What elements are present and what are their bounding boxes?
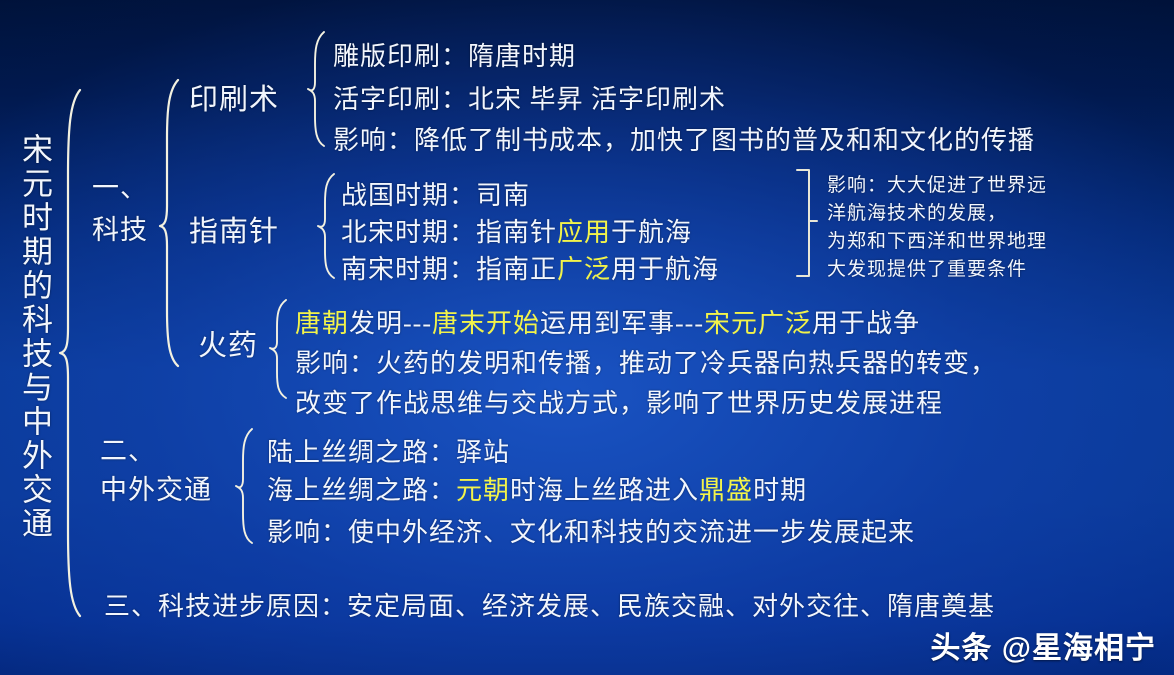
compass-line-2: 北宋时期：指南针应用于航海 — [341, 212, 692, 249]
printing-line-3: 影响：降低了制书成本，加快了图书的普及和和文化的传播 — [333, 120, 1035, 157]
gunpowder-brace — [268, 298, 290, 400]
gunpowder-hl-3: 宋元广泛 — [704, 309, 812, 338]
compass-effect-line-4: 大发现提供了重要条件 — [827, 254, 1027, 281]
section2-line-2-highlight-2: 鼎盛 — [699, 476, 753, 505]
compass-line-3: 南宋时期：指南正广泛用于航海 — [341, 249, 719, 286]
section2-line-2-pre: 海上丝绸之路： — [267, 476, 456, 505]
main-brace — [58, 88, 84, 618]
topic-compass-label: 指南针 — [189, 208, 279, 250]
gunpowder-hl-2: 唐末开始 — [432, 309, 540, 338]
compass-line-3-highlight: 广泛 — [557, 255, 611, 284]
compass-effect-bracket — [795, 168, 819, 278]
gunpowder-line-1: 唐朝发明---唐末开始运用到军事---宋元广泛用于战争 — [295, 303, 920, 340]
compass-line-2-post: 于航海 — [611, 218, 692, 247]
gunpowder-mid-2: 运用到军事--- — [540, 309, 704, 338]
slide-canvas: 宋元时期的科技与中外交通 一、 科技 印刷术 雕版印刷：隋唐时期 活字印刷：北宋… — [0, 0, 1174, 675]
printing-line-2: 活字印刷：北宋 毕昇 活字印刷术 — [333, 79, 726, 116]
section2-line-3: 影响：使中外经济、文化和科技的交流进一步发展起来 — [267, 512, 915, 549]
page-title: 宋元时期的科技与中外交通 — [8, 133, 54, 541]
compass-effect-line-1: 影响：大大促进了世界远 — [827, 170, 1047, 197]
compass-line-3-post: 用于航海 — [611, 255, 719, 284]
section2-line-1: 陆上丝绸之路：驿站 — [267, 432, 510, 469]
compass-brace — [316, 172, 338, 280]
section1-brace — [158, 78, 182, 368]
compass-effect-line-2: 洋航海技术的发展， — [827, 198, 1007, 225]
gunpowder-line-3: 改变了作战思维与交战方式，影响了世界历史发展进程 — [295, 383, 943, 420]
watermark: 头条 @星海相宁 — [930, 623, 1156, 667]
gunpowder-mid-1: 发明--- — [349, 309, 432, 338]
section2-label-line1: 二、 — [100, 429, 156, 468]
printing-brace — [306, 30, 328, 148]
section2-line-2-mid: 时海上丝路进入 — [510, 476, 699, 505]
compass-effect-line-3: 为郑和下西洋和世界地理 — [827, 226, 1047, 253]
section2-line-2-post: 时期 — [753, 476, 807, 505]
compass-line-2-highlight: 应用 — [557, 218, 611, 247]
gunpowder-line-2: 影响：火药的发明和传播，推动了冷兵器向热兵器的转变， — [295, 343, 997, 380]
compass-line-1: 战国时期：司南 — [341, 175, 530, 212]
section2-line-2: 海上丝绸之路：元朝时海上丝路进入鼎盛时期 — [267, 470, 807, 507]
watermark-handle: @星海相宁 — [1002, 632, 1156, 665]
section1-label-line1: 一、 — [92, 166, 148, 205]
compass-line-2-pre: 北宋时期：指南针 — [341, 218, 557, 247]
section2-line-2-highlight-1: 元朝 — [456, 476, 510, 505]
gunpowder-post: 用于战争 — [812, 309, 920, 338]
section2-brace — [234, 427, 256, 545]
gunpowder-hl-1: 唐朝 — [295, 309, 349, 338]
compass-line-3-pre: 南宋时期：指南正 — [341, 255, 557, 284]
printing-line-1: 雕版印刷：隋唐时期 — [333, 36, 576, 73]
compass-line-1-text: 战国时期：司南 — [341, 181, 530, 210]
section3-line: 三、科技进步原因：安定局面、经济发展、民族交融、对外交往、隋唐奠基 — [104, 586, 995, 623]
watermark-brand: 头条 — [930, 632, 992, 665]
topic-printing-label: 印刷术 — [189, 76, 279, 118]
topic-gunpowder-label: 火药 — [198, 322, 258, 364]
section2-label-line2: 中外交通 — [100, 468, 212, 507]
section1-label-line2: 科技 — [92, 208, 148, 247]
